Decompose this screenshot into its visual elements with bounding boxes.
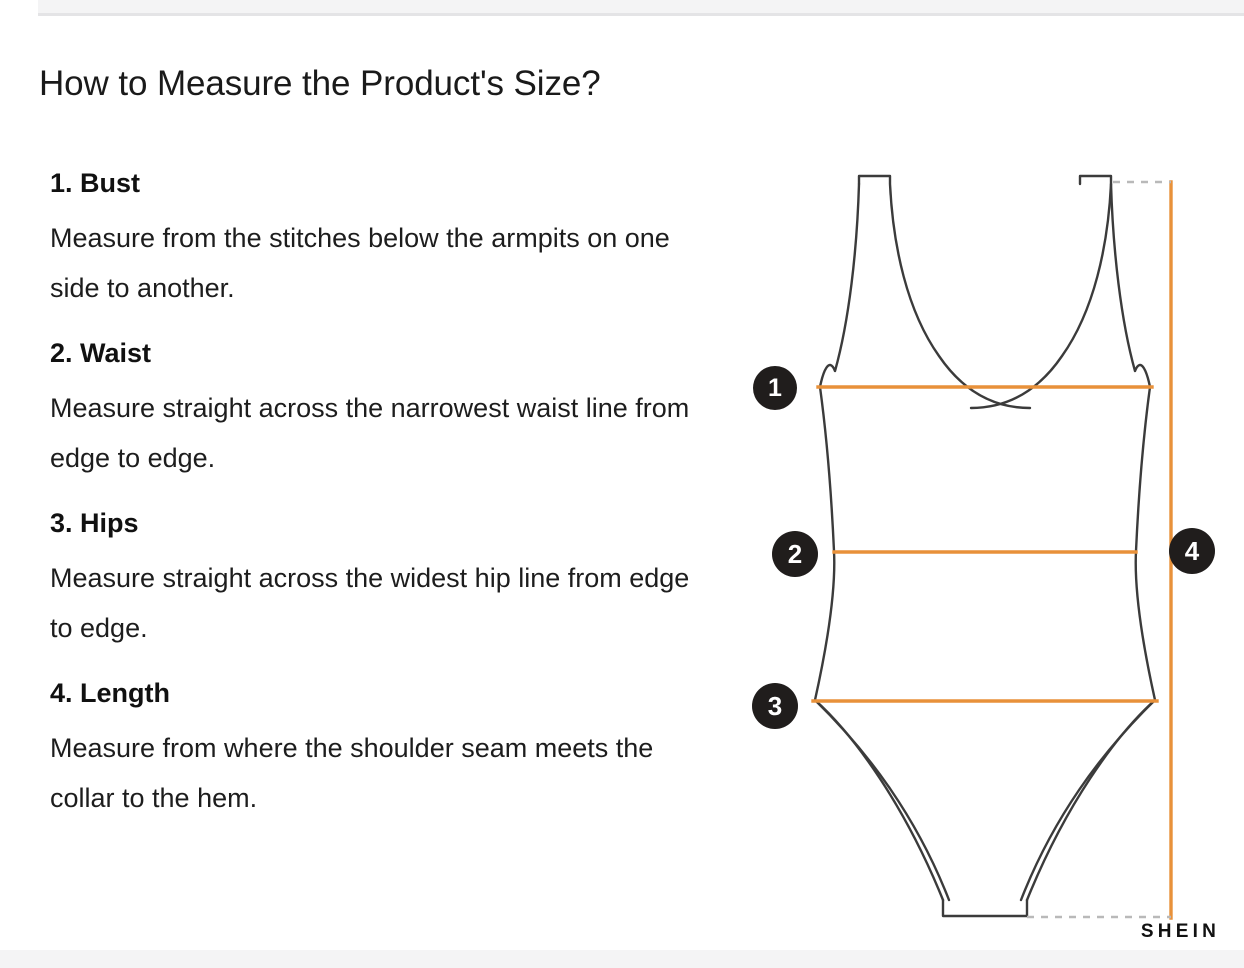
- svg-text:4: 4: [1185, 536, 1200, 566]
- svg-text:2: 2: [788, 539, 802, 569]
- step-item-waist: 2. Waist Measure straight across the nar…: [50, 336, 710, 484]
- swimsuit-diagram: 1 2 3 4: [735, 156, 1235, 956]
- step-item-bust: 1. Bust Measure from the stitches below …: [50, 166, 710, 314]
- step-title-hips: 3. Hips: [50, 506, 710, 541]
- marker-badge-4: 4: [1169, 528, 1215, 574]
- step-description-waist: Measure straight across the narrowest wa…: [50, 383, 690, 485]
- shein-logo: SHEIN: [1141, 921, 1220, 943]
- step-title-length: 4. Length: [50, 676, 710, 711]
- svg-text:1: 1: [768, 374, 782, 402]
- step-item-length: 4. Length Measure from where the shoulde…: [50, 676, 710, 824]
- step-description-length: Measure from where the shoulder seam mee…: [50, 723, 690, 825]
- size-guide-page: How to Measure the Product's Size? 1. Bu…: [0, 0, 1244, 968]
- marker-badge-2: 2: [772, 531, 818, 577]
- measurement-steps-list: 1. Bust Measure from the stitches below …: [50, 166, 710, 824]
- step-title-bust: 1. Bust: [50, 166, 710, 201]
- content-area: How to Measure the Product's Size? 1. Bu…: [0, 16, 1244, 950]
- garment-outline-icon: [815, 176, 1155, 916]
- step-item-hips: 3. Hips Measure straight across the wide…: [50, 506, 710, 654]
- page-title: How to Measure the Product's Size?: [39, 64, 601, 104]
- svg-text:3: 3: [768, 691, 782, 721]
- marker-badge-1: 1: [753, 366, 797, 410]
- step-description-hips: Measure straight across the widest hip l…: [50, 553, 690, 655]
- bottom-chrome-band: [0, 950, 1244, 968]
- top-chrome-band: [0, 0, 1244, 14]
- marker-badge-3: 3: [752, 683, 798, 729]
- top-band-notch: [0, 0, 38, 14]
- step-title-waist: 2. Waist: [50, 336, 710, 371]
- step-description-bust: Measure from the stitches below the armp…: [50, 213, 690, 315]
